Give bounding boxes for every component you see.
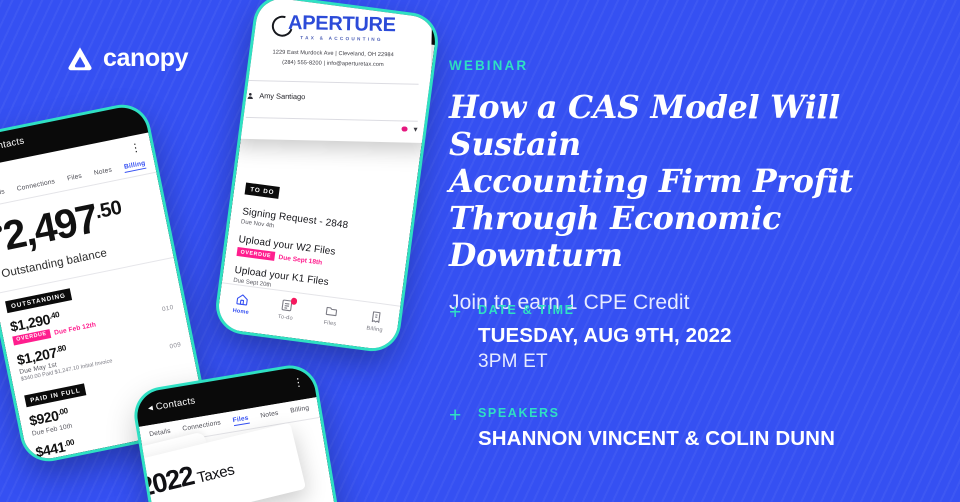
tab-billing[interactable]: Billing	[290, 405, 310, 417]
address-line-2: (284) 555-8200 | info@aperturetax.com	[282, 59, 384, 67]
person-icon	[246, 86, 254, 104]
nav-label-files: Files	[323, 320, 336, 328]
nav-item-todo[interactable]: To-do	[263, 296, 310, 324]
back-to-contacts-link[interactable]: ◂ Contacts	[0, 135, 25, 155]
date-value: TUESDAY, AUG 9TH, 2022	[478, 324, 732, 348]
eyebrow-webinar: WEBINAR	[449, 58, 919, 73]
tab-details[interactable]: Details	[149, 428, 172, 440]
plus-icon: +	[449, 407, 465, 451]
tab-connections[interactable]: Connections	[16, 178, 56, 195]
headline-line-3: Through Economic Downturn	[449, 200, 781, 274]
phone-mockup-home: TO DO Signing Request - 2848 Due Nov 4th…	[216, 0, 438, 351]
tab-files[interactable]: Files	[67, 173, 83, 185]
canopy-wordmark: canopy	[103, 46, 188, 71]
tab-billing[interactable]: Billing	[123, 160, 146, 173]
detail-date-time: + DATE & TIME TUESDAY, AUG 9TH, 2022 3PM…	[449, 303, 732, 373]
headline-line-2: Accounting Firm Profit	[449, 163, 853, 200]
aperture-logo: APERTURE TAX & ACCOUNTING	[248, 12, 421, 43]
headline-line-1: How a CAS Model Will Sustain	[449, 89, 840, 163]
nav-label-home: Home	[232, 308, 249, 316]
nav-item-files[interactable]: Files	[307, 302, 354, 330]
page-title: How a CAS Model Will Sustain Accounting …	[449, 89, 919, 274]
canopy-logo[interactable]: canopy	[66, 44, 188, 72]
nav-item-home[interactable]: Home	[218, 290, 265, 318]
business-card: APERTURE TAX & ACCOUNTING 1229 East Murd…	[233, 0, 432, 143]
folder-icon	[324, 304, 339, 319]
nav-item-billing[interactable]: Billing	[352, 308, 399, 336]
speakers-value: SHANNON VINCENT & COLIN DUNN	[478, 427, 835, 451]
billing-icon	[369, 310, 384, 325]
section-header-todo: TO DO	[245, 183, 281, 199]
address-line-1: 1229 East Murdock Ave | Cleveland, OH 22…	[273, 49, 394, 58]
back-to-contacts-link[interactable]: ◂ Contacts	[147, 395, 196, 414]
aperture-tagline: TAX & ACCOUNTING	[288, 35, 396, 42]
nav-label-billing: Billing	[366, 325, 383, 333]
overflow-menu-icon[interactable]: ⋮	[292, 377, 304, 389]
card-contact-name: Amy Santiago	[259, 91, 305, 101]
headline-block: WEBINAR How a CAS Model Will Sustain Acc…	[449, 58, 919, 315]
tab-details[interactable]: Details	[0, 188, 6, 201]
detail-speakers: + SPEAKERS SHANNON VINCENT & COLIN DUNN	[449, 406, 835, 451]
overflow-menu-icon[interactable]: ⋮	[129, 142, 142, 154]
speakers-label: SPEAKERS	[478, 406, 835, 420]
pink-dot-icon	[402, 126, 408, 132]
canopy-triangle-mark-icon	[66, 44, 94, 72]
card-contact-row[interactable]: Amy Santiago	[246, 79, 419, 108]
todo-notification-badge	[290, 297, 297, 304]
card-footer: ▾	[246, 116, 418, 132]
chevron-down-icon[interactable]: ▾	[413, 126, 417, 132]
aperture-address: 1229 East Murdock Ave | Cleveland, OH 22…	[247, 48, 419, 71]
nav-label-todo: To-do	[277, 314, 293, 322]
date-time-label: DATE & TIME	[478, 303, 732, 317]
webinar-promo-banner: canopy WEBINAR How a CAS Model Will Sust…	[0, 0, 960, 502]
tab-notes[interactable]: Notes	[93, 167, 113, 179]
plus-icon: +	[449, 304, 465, 373]
time-value: 3PM ET	[478, 351, 732, 373]
home-icon	[235, 292, 250, 307]
aperture-company-name: APERTURE	[288, 12, 396, 36]
